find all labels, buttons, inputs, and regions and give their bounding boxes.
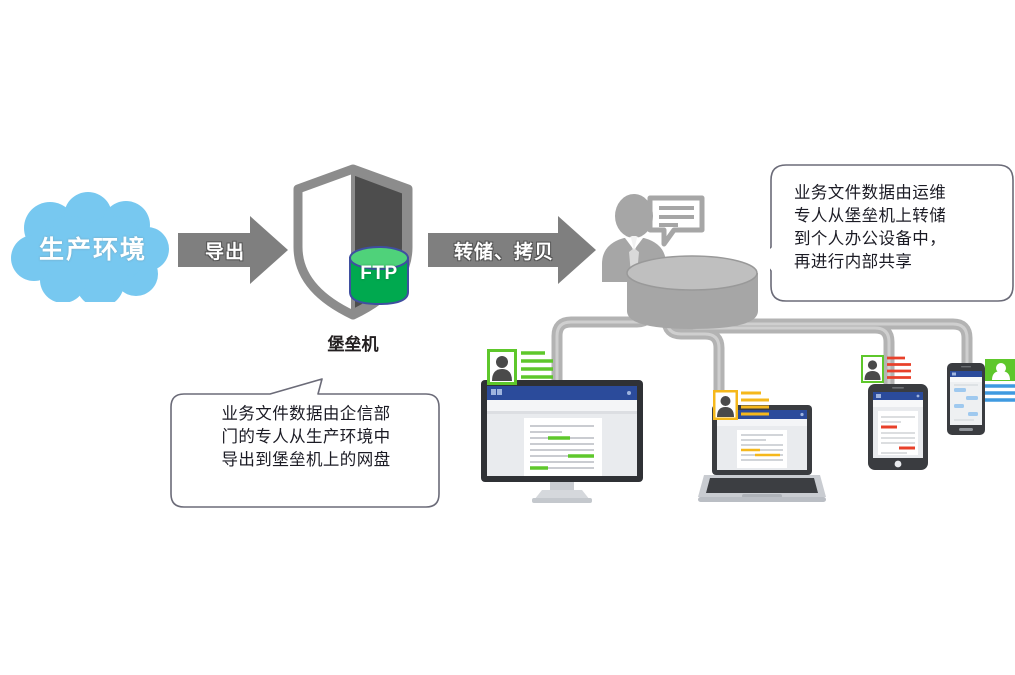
cloud-label: 生产环境	[8, 230, 178, 266]
contact-card-laptop	[713, 390, 771, 420]
diagram-canvas: 生产环境 导出 FTP 堡垒机 转储、拷贝	[0, 0, 1015, 675]
callout-right: 业务文件数据由运维 专人从堡垒机上转储 到个人办公设备中， 再进行内部共享	[770, 163, 1015, 303]
shared-storage-cylinder	[625, 255, 760, 333]
arrow-export-label: 导出	[178, 216, 288, 284]
contact-card-phone	[985, 359, 1015, 403]
callout-right-text: 业务文件数据由运维 专人从堡垒机上转储 到个人办公设备中， 再进行内部共享	[794, 181, 994, 273]
callout-left: 业务文件数据由企信部 门的专人从生产环境中 导出到堡垒机上的网盘	[170, 378, 440, 510]
contact-card-monitor	[487, 349, 555, 385]
smartphone-device	[946, 362, 986, 436]
arrow-transfer: 转储、拷贝	[428, 216, 596, 284]
callout-left-text: 业务文件数据由企信部 门的专人从生产环境中 导出到堡垒机上的网盘	[192, 402, 420, 471]
bastion-host-label: 堡垒机	[288, 330, 418, 355]
desktop-monitor	[478, 378, 646, 504]
tablet-device	[867, 383, 929, 471]
production-environment-cloud: 生产环境	[8, 192, 178, 302]
ftp-label: FTP	[348, 263, 410, 285]
arrow-transfer-label: 转储、拷贝	[428, 216, 596, 284]
contact-card-tablet	[861, 355, 913, 383]
arrow-export: 导出	[178, 216, 288, 284]
